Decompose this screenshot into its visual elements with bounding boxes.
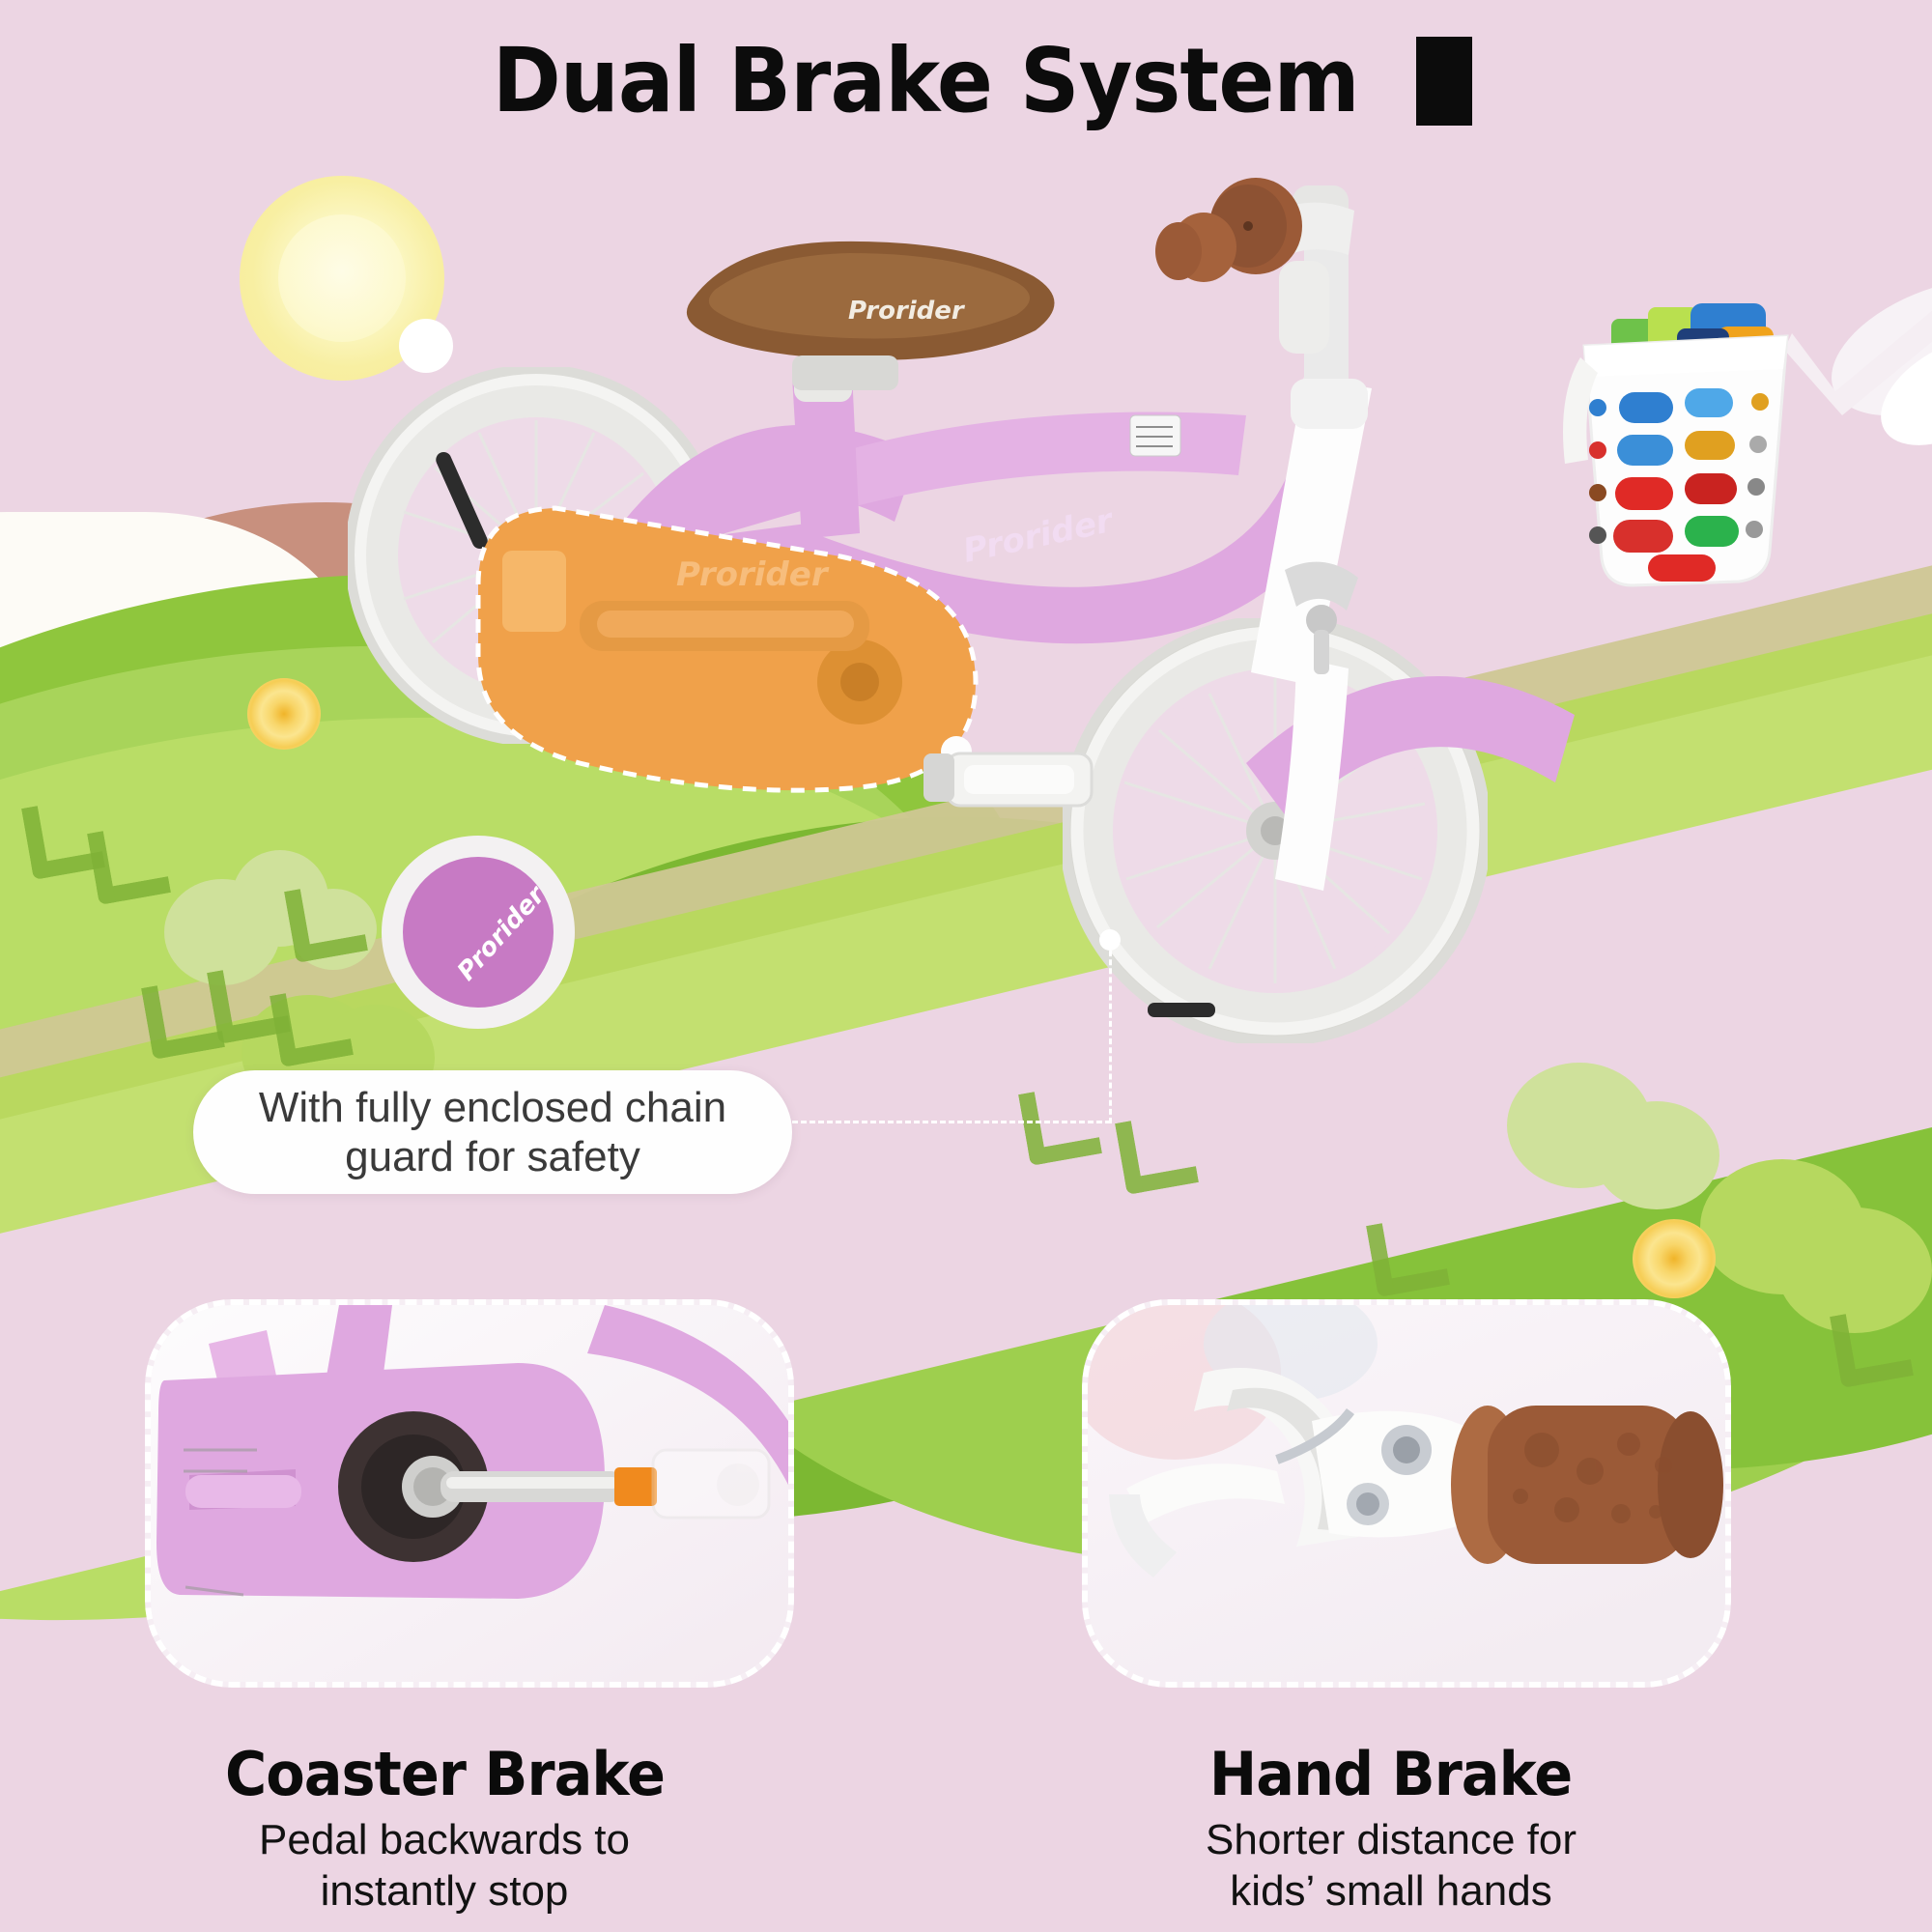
front-basket [1555,299,1835,609]
training-wheel: Prorider [377,831,580,1034]
grass-tuft [1830,1304,1914,1388]
feature-caption-coaster-brake: Coaster Brake Pedal backwards to instant… [77,1739,811,1918]
title-square-accent [1416,37,1472,126]
saddle: Prorider [676,222,1082,406]
hand-brake-photo [1088,1305,1725,1682]
title-text: Dual Brake System [493,29,1359,132]
coaster-brake-subtitle-line1: Pedal backwards to [259,1816,630,1863]
hand-brake-illustration [1088,1305,1725,1682]
coaster-brake-subtitle-line2: instantly stop [321,1867,569,1915]
front-brake-caliper [1246,541,1401,696]
coaster-brake-title: Coaster Brake [77,1739,811,1809]
feature-caption-hand-brake: Hand Brake Shorter distance for kids’ sm… [1024,1739,1758,1918]
hand-brake-subtitle-line2: kids’ small hands [1230,1867,1551,1915]
feature-image-coaster-brake [145,1299,794,1688]
callout-line-1: With fully enclosed chain [259,1084,726,1131]
grass-tuft [1366,1213,1450,1297]
frame-logo: Prorider [956,493,1265,609]
pedal [918,715,1130,840]
callout-line-2: guard for safety [345,1133,640,1180]
coaster-brake-photo [151,1305,788,1682]
hand-brake-subtitle-line1: Shorter distance for [1206,1816,1577,1863]
leader-line-vertical [1109,942,1112,1123]
coaster-brake-subtitle: Pedal backwards to instantly stop [77,1815,811,1918]
saddle-logo: Prorider [848,297,966,326]
grass-tuft [87,821,171,905]
frame-logo-text: Prorider [960,501,1119,571]
bicycle-product-image: Prorider Prorider Prorider Prorider [319,174,1826,1159]
chain-guard-callout: With fully enclosed chain guard for safe… [193,1070,792,1194]
flower [247,678,321,750]
coaster-brake-illustration [151,1305,788,1682]
product-feature-banner: Dual Brake System [0,0,1932,1932]
leader-anchor-dot [1099,929,1121,951]
handlebar [1111,155,1517,406]
grass-tuft [141,976,225,1060]
callout-text: With fully enclosed chain guard for safe… [259,1083,726,1181]
hand-brake-subtitle: Shorter distance for kids’ small hands [1024,1815,1758,1918]
feature-image-hand-brake [1082,1299,1731,1688]
flower [1633,1219,1716,1298]
hand-brake-title: Hand Brake [1024,1739,1758,1809]
page-title: Dual Brake System [0,29,1932,132]
chain-guard-logo: Prorider [676,555,830,594]
leader-line-horizontal [792,1121,1111,1123]
